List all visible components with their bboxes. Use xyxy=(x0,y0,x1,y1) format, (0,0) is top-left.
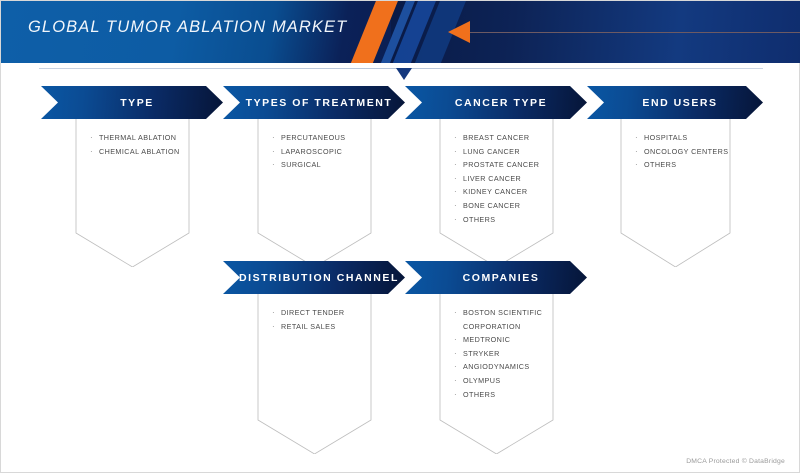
bullet-icon: · xyxy=(454,360,463,374)
list-item: ·OTHERS xyxy=(635,158,753,172)
list-item: ·LUNG CANCER xyxy=(454,145,577,159)
list-item-label: STRYKER xyxy=(463,347,500,361)
card-item-list: ·THERMAL ABLATION·CHEMICAL ABLATION xyxy=(41,119,223,158)
list-item-label: LIVER CANCER xyxy=(463,172,521,186)
card-body: ·DIRECT TENDER·RETAIL SALES xyxy=(223,294,405,454)
left-arrow-icon xyxy=(448,21,470,43)
list-item-label: MEDTRONIC xyxy=(463,333,510,347)
list-item: ·THERMAL ABLATION xyxy=(90,131,213,145)
bullet-icon: · xyxy=(454,185,463,199)
card-banner[interactable]: COMPANIES xyxy=(405,261,587,294)
bullet-icon: · xyxy=(272,306,281,320)
bullet-icon: · xyxy=(272,145,281,159)
list-item: ·MEDTRONIC xyxy=(454,333,577,347)
segment-card: END USERS·HOSPITALS·ONCOLOGY CENTERS·OTH… xyxy=(587,86,763,267)
card-banner[interactable]: CANCER TYPE xyxy=(405,86,587,119)
bullet-icon: · xyxy=(454,199,463,213)
bullet-icon: · xyxy=(454,145,463,159)
card-title: DISTRIBUTION CHANNEL xyxy=(239,272,399,284)
bullet-icon: · xyxy=(454,388,463,402)
list-item-label: KIDNEY CANCER xyxy=(463,185,527,199)
list-item: ·BREAST CANCER xyxy=(454,131,577,145)
bullet-icon: · xyxy=(454,374,463,388)
bullet-icon: · xyxy=(635,145,644,159)
list-item: ·KIDNEY CANCER xyxy=(454,185,577,199)
list-item-label: OTHERS xyxy=(644,158,676,172)
list-item: ·CORPORATION xyxy=(454,320,577,334)
card-item-list: ·DIRECT TENDER·RETAIL SALES xyxy=(223,294,405,333)
list-item-label: PROSTATE CANCER xyxy=(463,158,539,172)
list-item: ·LAPAROSCOPIC xyxy=(272,145,395,159)
card-body: ·HOSPITALS·ONCOLOGY CENTERS·OTHERS xyxy=(587,119,763,267)
card-banner[interactable]: TYPE xyxy=(41,86,223,119)
card-item-list: ·PERCUTANEOUS·LAPAROSCOPIC·SURGICAL xyxy=(223,119,405,172)
list-item: ·OTHERS xyxy=(454,388,577,402)
list-item-label: BONE CANCER xyxy=(463,199,520,213)
list-item-label: ONCOLOGY CENTERS xyxy=(644,145,728,159)
card-body: ·PERCUTANEOUS·LAPAROSCOPIC·SURGICAL xyxy=(223,119,405,267)
list-item: ·OTHERS xyxy=(454,213,577,227)
list-item: ·PROSTATE CANCER xyxy=(454,158,577,172)
list-item: ·PERCUTANEOUS xyxy=(272,131,395,145)
list-item-label: BOSTON SCIENTIFIC xyxy=(463,306,542,320)
card-item-list: ·HOSPITALS·ONCOLOGY CENTERS·OTHERS xyxy=(587,119,763,172)
list-item-label: SURGICAL xyxy=(281,158,321,172)
list-item: ·ONCOLOGY CENTERS xyxy=(635,145,753,159)
card-title: TYPE xyxy=(120,97,154,109)
bullet-icon: · xyxy=(90,131,99,145)
list-item-label: HOSPITALS xyxy=(644,131,688,145)
header-arrow-line xyxy=(469,32,800,33)
list-item-label: ANGIODYNAMICS xyxy=(463,360,530,374)
list-item: ·SURGICAL xyxy=(272,158,395,172)
list-item-label: DIRECT TENDER xyxy=(281,306,345,320)
bullet-icon: · xyxy=(454,213,463,227)
bullet-icon: · xyxy=(454,131,463,145)
list-item-label: LAPAROSCOPIC xyxy=(281,145,342,159)
footer-copyright: DMCA Protected © DataBridge xyxy=(686,458,785,465)
list-item: ·LIVER CANCER xyxy=(454,172,577,186)
page-header: GLOBAL TUMOR ABLATION MARKET xyxy=(1,1,800,63)
card-title: END USERS xyxy=(642,97,717,109)
card-title: CANCER TYPE xyxy=(455,97,547,109)
bullet-icon: · xyxy=(635,158,644,172)
list-item: ·STRYKER xyxy=(454,347,577,361)
list-item: ·ANGIODYNAMICS xyxy=(454,360,577,374)
list-item-label: OTHERS xyxy=(463,388,495,402)
list-item-label: OTHERS xyxy=(463,213,495,227)
segment-card: TYPES OF TREATMENT·PERCUTANEOUS·LAPAROSC… xyxy=(223,86,405,267)
list-item-label: PERCUTANEOUS xyxy=(281,131,345,145)
bullet-icon: · xyxy=(90,145,99,159)
bullet-icon: · xyxy=(635,131,644,145)
list-item: ·HOSPITALS xyxy=(635,131,753,145)
chevron-down-icon xyxy=(396,68,412,80)
bullet-icon: · xyxy=(272,158,281,172)
bullet-icon: · xyxy=(454,158,463,172)
segment-card: DISTRIBUTION CHANNEL·DIRECT TENDER·RETAI… xyxy=(223,261,405,454)
list-item: ·RETAIL SALES xyxy=(272,320,395,334)
card-banner[interactable]: DISTRIBUTION CHANNEL xyxy=(223,261,405,294)
list-item-label: LUNG CANCER xyxy=(463,145,520,159)
bullet-icon: · xyxy=(272,320,281,334)
list-item-label: THERMAL ABLATION xyxy=(99,131,176,145)
list-item: ·BOSTON SCIENTIFIC xyxy=(454,306,577,320)
bullet-icon: · xyxy=(454,172,463,186)
segment-card: COMPANIES·BOSTON SCIENTIFIC·CORPORATION·… xyxy=(405,261,587,454)
list-item-label: OLYMPUS xyxy=(463,374,501,388)
card-item-list: ·BREAST CANCER·LUNG CANCER·PROSTATE CANC… xyxy=(405,119,587,226)
list-item-label: CORPORATION xyxy=(463,320,521,334)
list-item: ·DIRECT TENDER xyxy=(272,306,395,320)
card-banner[interactable]: TYPES OF TREATMENT xyxy=(223,86,405,119)
infographic-page: GLOBAL TUMOR ABLATION MARKET TYPE·THERMA… xyxy=(0,0,800,473)
card-title: TYPES OF TREATMENT xyxy=(246,97,393,109)
card-body: ·BOSTON SCIENTIFIC·CORPORATION·MEDTRONIC… xyxy=(405,294,587,454)
bullet-icon: · xyxy=(454,333,463,347)
card-banner[interactable]: END USERS xyxy=(587,86,763,119)
card-title: COMPANIES xyxy=(463,272,540,284)
card-body: ·THERMAL ABLATION·CHEMICAL ABLATION xyxy=(41,119,223,267)
page-title: GLOBAL TUMOR ABLATION MARKET xyxy=(28,18,347,37)
list-item-label: CHEMICAL ABLATION xyxy=(99,145,180,159)
bullet-icon: · xyxy=(454,306,463,320)
bullet-icon: · xyxy=(454,347,463,361)
list-item: ·BONE CANCER xyxy=(454,199,577,213)
list-item-label: BREAST CANCER xyxy=(463,131,529,145)
card-item-list: ·BOSTON SCIENTIFIC·CORPORATION·MEDTRONIC… xyxy=(405,294,587,401)
bullet-icon: · xyxy=(272,131,281,145)
segment-card: TYPE·THERMAL ABLATION·CHEMICAL ABLATION xyxy=(41,86,223,267)
segment-card: CANCER TYPE·BREAST CANCER·LUNG CANCER·PR… xyxy=(405,86,587,267)
list-item-label: RETAIL SALES xyxy=(281,320,336,334)
list-item: ·CHEMICAL ABLATION xyxy=(90,145,213,159)
list-item: ·OLYMPUS xyxy=(454,374,577,388)
card-body: ·BREAST CANCER·LUNG CANCER·PROSTATE CANC… xyxy=(405,119,587,267)
